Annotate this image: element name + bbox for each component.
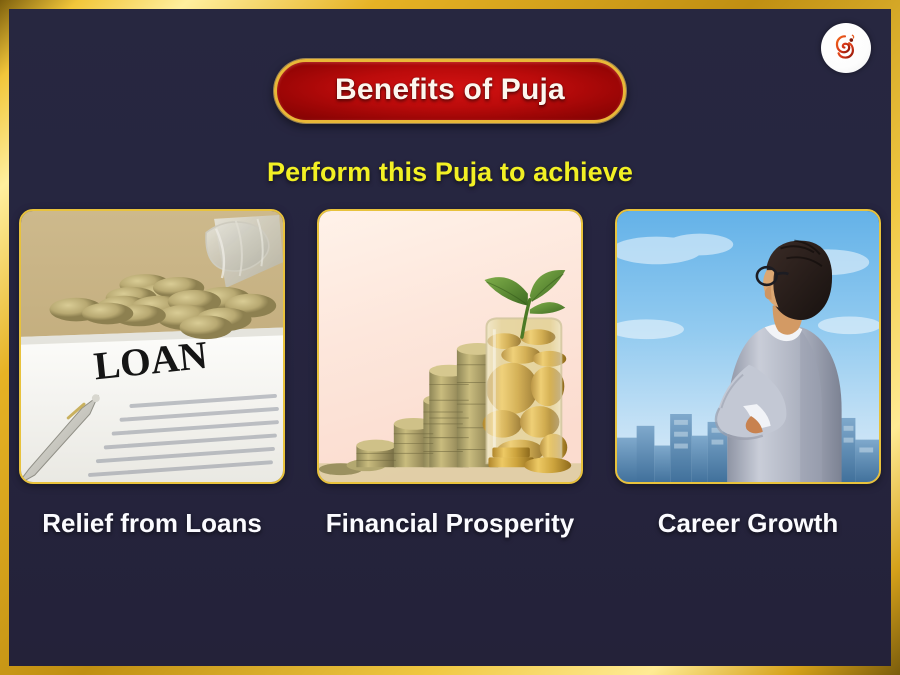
benefit-caption: Career Growth	[658, 506, 839, 540]
title-pill: Benefits of Puja	[274, 59, 626, 123]
subtitle: Perform this Puja to achieve	[9, 157, 891, 188]
poster-canvas: Benefits of Puja Perform this Puja to ac…	[9, 9, 891, 666]
benefit-caption: Financial Prosperity	[326, 506, 575, 540]
benefit-card-relief-from-loans: LOAN	[19, 209, 285, 540]
growing-coin-stacks-plant-photo	[317, 209, 583, 484]
benefits-row: LOAN	[19, 209, 881, 540]
poster-frame: Benefits of Puja Perform this Puja to ac…	[0, 0, 900, 675]
page-title: Benefits of Puja	[335, 75, 565, 105]
loan-document-coins-photo: LOAN	[19, 209, 285, 484]
businessman-city-skyline-photo	[615, 209, 881, 484]
benefit-card-financial-prosperity: Financial Prosperity	[317, 209, 583, 540]
benefit-caption: Relief from Loans	[42, 506, 262, 540]
title-banner: Benefits of Puja	[9, 59, 891, 123]
benefit-card-career-growth: Career Growth	[615, 209, 881, 540]
